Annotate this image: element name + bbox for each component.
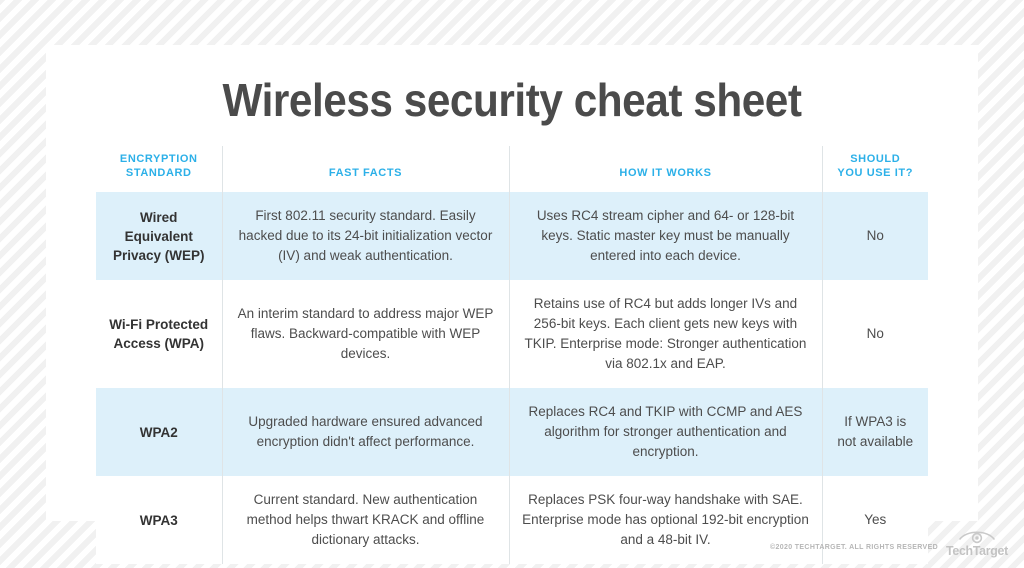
column-header-should-you-use-it: SHOULD YOU USE IT? — [822, 146, 928, 192]
cell-should-you-use-it: No — [822, 192, 928, 280]
header-line-1: ENCRYPTION — [120, 153, 198, 165]
header-line-1: SHOULD — [850, 153, 900, 165]
eye-icon — [958, 528, 996, 544]
logo-wordmark: TechTarget — [944, 543, 1011, 558]
cell-fast-facts: First 802.11 security standard. Easily h… — [222, 192, 509, 280]
cell-how-it-works: Retains use of RC4 but adds longer IVs a… — [509, 280, 822, 388]
header-line-2: STANDARD — [126, 167, 192, 179]
footer: ©2020 TECHTARGET. ALL RIGHTS RESERVED Te… — [0, 536, 1024, 568]
header-line-1: HOW IT WORKS — [619, 167, 711, 179]
table-row: Wi-Fi Protected Access (WPA) An interim … — [96, 280, 928, 388]
wireless-security-table: ENCRYPTION STANDARD FAST FACTS HOW IT WO… — [96, 146, 928, 564]
cell-encryption-standard: WPA2 — [96, 388, 222, 476]
column-header-how-it-works: HOW IT WORKS — [509, 146, 822, 192]
content-card: Wireless security cheat sheet ENCRYPTION… — [46, 45, 978, 521]
cell-fast-facts: An interim standard to address major WEP… — [222, 280, 509, 388]
cell-fast-facts: Upgraded hardware ensured advanced encry… — [222, 388, 509, 476]
table-row: WPA2 Upgraded hardware ensured advanced … — [96, 388, 928, 476]
table-header-row: ENCRYPTION STANDARD FAST FACTS HOW IT WO… — [96, 146, 928, 192]
copyright-text: ©2020 TECHTARGET. ALL RIGHTS RESERVED — [770, 544, 938, 551]
column-header-fast-facts: FAST FACTS — [222, 146, 509, 192]
cell-encryption-standard: Wi-Fi Protected Access (WPA) — [96, 280, 222, 388]
infographic-page: Wireless security cheat sheet ENCRYPTION… — [0, 0, 1024, 568]
cell-encryption-standard: Wired Equivalent Privacy (WEP) — [96, 192, 222, 280]
header-line-2: YOU USE IT? — [837, 167, 913, 179]
cell-how-it-works: Replaces RC4 and TKIP with CCMP and AES … — [509, 388, 822, 476]
cell-should-you-use-it: No — [822, 280, 928, 388]
cell-how-it-works: Uses RC4 stream cipher and 64- or 128-bi… — [509, 192, 822, 280]
header-line-1: FAST FACTS — [329, 167, 402, 179]
column-header-encryption-standard: ENCRYPTION STANDARD — [96, 146, 222, 192]
techtarget-logo: TechTarget — [942, 528, 1012, 566]
page-title: Wireless security cheat sheet — [83, 73, 940, 127]
table-row: Wired Equivalent Privacy (WEP) First 802… — [96, 192, 928, 280]
cell-should-you-use-it: If WPA3 is not available — [822, 388, 928, 476]
